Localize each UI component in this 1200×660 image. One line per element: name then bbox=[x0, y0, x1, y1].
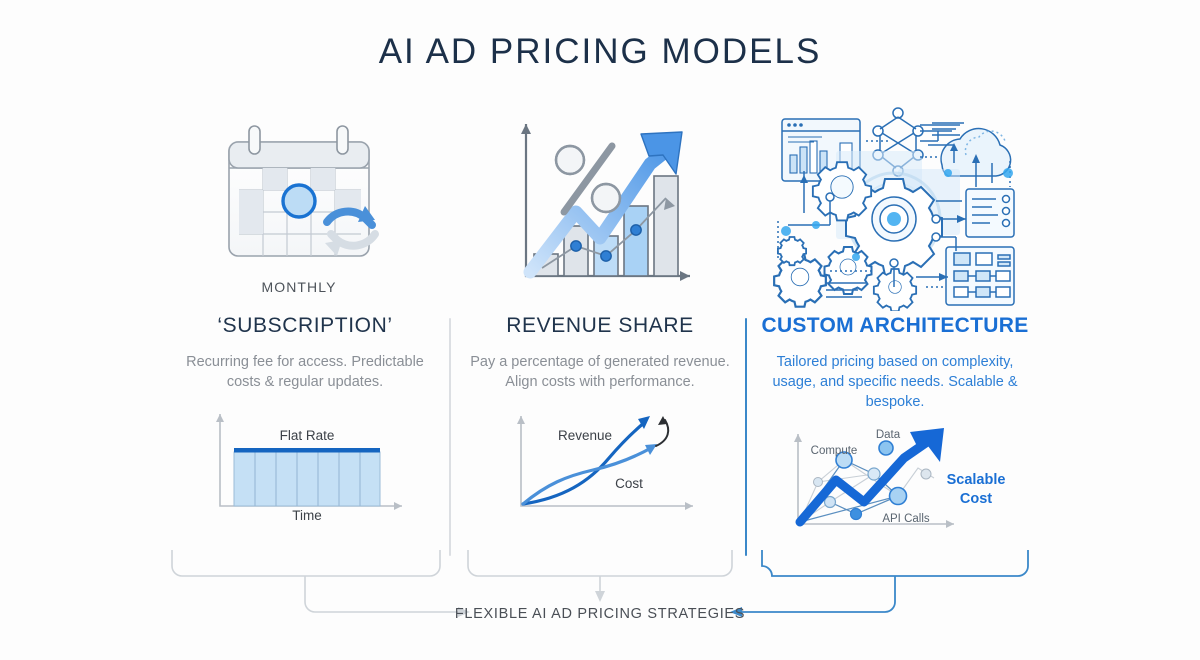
column-subscription[interactable]: MONTHLY ‘SUBSCRIPTION’ Recurring fee for… bbox=[160, 100, 450, 521]
calendar-recurring-icon: MONTHLY bbox=[160, 100, 450, 312]
chart-series-label: Flat Rate bbox=[280, 428, 335, 443]
gears-network-architecture-icon bbox=[750, 100, 1040, 312]
bottom-summary-label: FLEXIBLE AI AD PRICING STRATEGIES bbox=[0, 606, 1200, 622]
chart-series-label-cost: Cost bbox=[615, 476, 643, 491]
chart-x-label: Time bbox=[292, 508, 322, 521]
column-divider-2 bbox=[745, 318, 747, 556]
page-title: AI AD PRICING MODELS bbox=[0, 32, 1200, 72]
column-description: Pay a percentage of generated revenue. A… bbox=[455, 352, 745, 392]
column-description: Tailored pricing based on complexity, us… bbox=[750, 352, 1040, 412]
node-label-compute: Compute bbox=[810, 445, 857, 457]
column-description: Recurring fee for access. Predictable co… bbox=[160, 352, 450, 392]
chart-annotation-scalable: Scalable bbox=[946, 472, 1005, 488]
column-heading: CUSTOM ARCHITECTURE bbox=[750, 314, 1040, 338]
column-heading: REVENUE SHARE bbox=[455, 314, 745, 338]
revenue-cost-chart: Revenue Cost bbox=[455, 406, 745, 521]
svg-text:MONTHLY: MONTHLY bbox=[261, 279, 336, 295]
bottom-connectors bbox=[0, 540, 1200, 655]
flat-rate-chart: Flat Rate Time bbox=[160, 406, 450, 521]
chart-series-label-revenue: Revenue bbox=[557, 428, 611, 443]
infographic-canvas: AI AD PRICING MODELS bbox=[0, 0, 1200, 655]
chart-annotation-cost: Cost bbox=[959, 491, 991, 507]
column-heading: ‘SUBSCRIPTION’ bbox=[160, 314, 450, 338]
node-label-api-calls: API Calls bbox=[882, 513, 930, 525]
column-custom-architecture[interactable]: CUSTOM ARCHITECTURE Tailored pricing bas… bbox=[750, 100, 1040, 544]
scalable-cost-chart: Compute Data API Calls Scalable Cost bbox=[750, 426, 1040, 544]
column-revenue-share[interactable]: REVENUE SHARE Pay a percentage of genera… bbox=[455, 100, 745, 521]
percent-growth-chart-icon bbox=[455, 100, 745, 312]
node-label-data: Data bbox=[875, 429, 900, 441]
